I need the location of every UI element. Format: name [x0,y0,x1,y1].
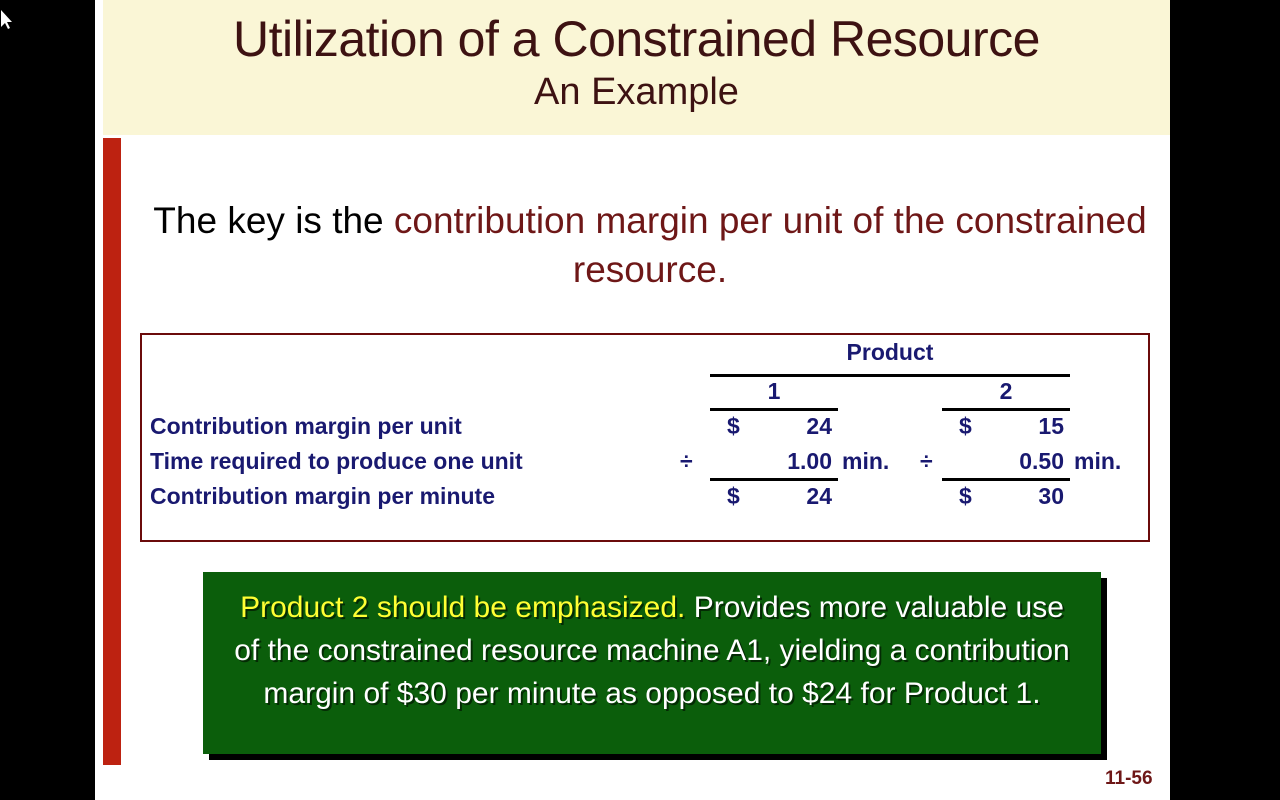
table-row-label: Contribution margin per minute [150,483,495,510]
table-group-rule [710,374,1070,377]
table-total-rule-2 [942,478,1070,481]
table-row-label: Contribution margin per unit [150,413,462,440]
table-column-rule-1 [710,408,838,411]
table-row-operator: ÷ [920,448,933,475]
table-cell-currency: $ [727,483,740,510]
lead-statement-highlight: contribution margin per unit of the cons… [394,200,1147,290]
callout-emphasis: Product 2 should be emphasized. [240,591,685,624]
table-cell-unit: min. [1074,448,1121,475]
left-accent-bar [103,138,121,765]
table-column-header-1: 1 [710,378,838,405]
comparison-table: Product 1 2 Contribution margin per unit… [142,335,1148,540]
table-group-header: Product [710,339,1070,366]
table-cell-value: 1.00 [742,448,832,475]
table-cell-value: 24 [758,413,832,440]
slide-number: 11-56 [1105,768,1153,790]
table-cell-value: 15 [990,413,1064,440]
slide-viewer: Utilization of a Constrained Resource An… [0,0,1280,800]
table-row-label: Time required to produce one unit [150,448,523,475]
table-column-rule-2 [942,408,1070,411]
conclusion-callout: Product 2 should be emphasized. Provides… [203,572,1101,754]
table-cell-currency: $ [959,413,972,440]
page-title: Utilization of a Constrained Resource [103,0,1170,68]
slide-title-band: Utilization of a Constrained Resource An… [103,0,1170,135]
table-cell-value: 24 [758,483,832,510]
table-total-rule-1 [710,478,838,481]
mouse-cursor-icon [1,10,15,30]
table-cell-currency: $ [959,483,972,510]
table-cell-currency: $ [727,413,740,440]
page-subtitle: An Example [103,68,1170,116]
table-cell-value: 30 [990,483,1064,510]
comparison-table-panel: Product 1 2 Contribution margin per unit… [140,333,1150,542]
lead-statement: The key is the contribution margin per u… [150,196,1150,294]
table-cell-unit: min. [842,448,889,475]
lead-statement-plain: The key is the [153,200,394,241]
table-cell-value: 0.50 [974,448,1064,475]
slide-canvas: Utilization of a Constrained Resource An… [95,0,1170,800]
table-row-operator: ÷ [680,448,693,475]
table-column-header-2: 2 [942,378,1070,405]
